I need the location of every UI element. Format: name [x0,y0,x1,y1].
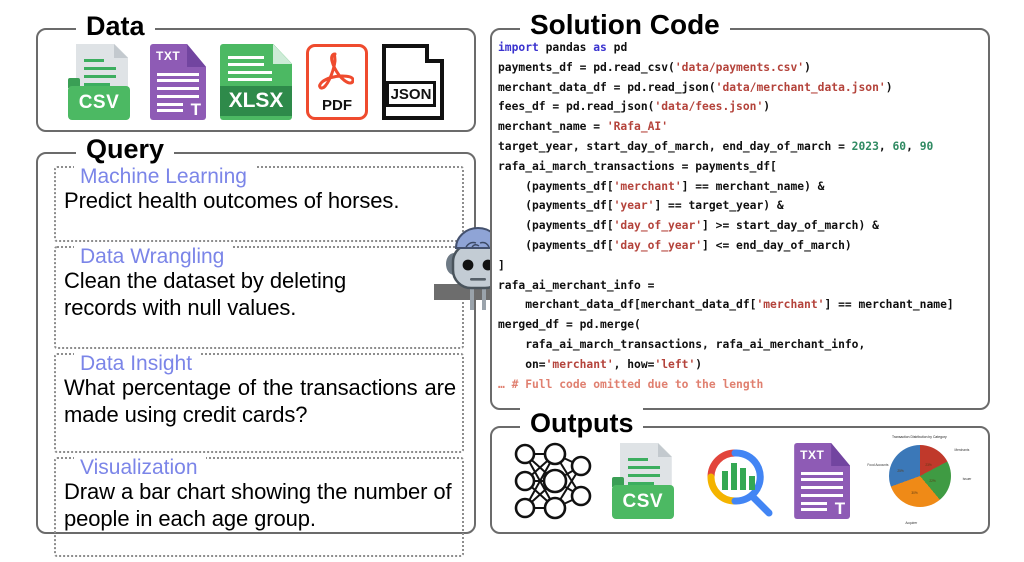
text-line [628,458,648,461]
csv-label: CSV [68,86,130,120]
query-text: Predict health outcomes of horses. [64,187,456,214]
pie-slice-value: 30% [911,491,917,495]
solution-code-panel: Solution Code import pandas as pd paymen… [490,28,990,410]
data-panel-title: Data [76,11,155,41]
text-line [801,508,827,511]
text-line [801,502,827,505]
query-panel: Query Machine Learning Predict health ou… [36,152,476,534]
csv-label: CSV [612,485,674,519]
outputs-panel: Outputs [490,426,990,534]
text-line [801,472,843,475]
query-item[interactable]: Visualization Draw a bar chart showing t… [54,457,464,557]
text-line [84,75,116,78]
figure-canvas: Data CSV TXT [0,0,1024,562]
outputs-icon-row: CSV [500,434,980,528]
page-fold [187,44,206,67]
query-item[interactable]: Data Wrangling Clean the dataset by dele… [54,246,464,349]
text-line [157,95,199,98]
text-line [628,466,660,469]
query-item[interactable]: Machine Learning Predict health outcomes… [54,166,464,242]
data-insight-magnifier-icon [697,441,777,521]
csv-file-icon: CSV [612,443,680,519]
xlsx-file-icon: XLSX [220,44,292,120]
data-file-icon-row: CSV TXT T [38,38,474,126]
text-line [801,478,843,481]
pie-slice-value: 25% [897,469,903,473]
text-line [157,87,199,90]
query-text: Draw a bar chart showing the number of p… [64,478,456,532]
text-line [228,78,272,81]
pie-chart-slices [889,445,951,507]
query-category-label: Data Insight [74,352,200,376]
txt-sub-label: T [835,500,845,517]
text-line [157,73,199,76]
pie-slice-label: Acquirer [905,521,917,525]
data-panel: Data CSV TXT [36,28,476,132]
text-line [84,67,116,70]
text-line [628,474,660,477]
json-label: JSON [386,81,436,107]
txt-label: TXT [156,49,180,63]
text-line [228,63,264,66]
code-block[interactable]: import pandas as pd payments_df = pd.rea… [498,38,984,404]
pie-chart-icon: Transaction Distribution by Category Mer… [867,435,971,527]
query-list: Machine Learning Predict health outcomes… [54,166,464,524]
query-text: What percentage of the transactions are … [64,374,456,428]
query-panel-title: Query [76,134,174,164]
txt-label: TXT [800,448,824,462]
pie-chart-title: Transaction Distribution by Category [867,435,971,440]
query-category-label: Visualization [74,456,206,480]
json-file-icon: JSON [382,44,444,120]
text-line [801,494,843,497]
text-line [84,59,104,62]
pdf-file-icon: PDF [306,44,368,120]
text-line [801,486,843,489]
pie-slice-value: 23% [925,463,931,467]
pie-slice-label: Issuer [963,477,972,481]
page-fold [425,44,444,63]
txt-file-icon: TXT T [794,443,850,519]
text-line [157,103,183,106]
solution-code-panel-title: Solution Code [520,10,730,40]
acrobat-glyph-icon [318,52,354,96]
query-category-label: Machine Learning [74,165,255,189]
pdf-label: PDF [306,97,368,114]
pie-slice-label: Merchants [954,448,969,452]
text-line [157,109,183,112]
query-text: Clean the dataset by deleting records wi… [64,267,394,321]
txt-file-icon: TXT T [150,44,206,120]
xlsx-label: XLSX [220,86,292,116]
csv-file-icon: CSV [68,44,136,120]
text-line [157,79,199,82]
query-category-label: Data Wrangling [74,245,232,269]
pie-slice-value: 22% [929,479,935,483]
txt-sub-label: T [191,101,201,118]
query-item[interactable]: Data Insight What percentage of the tran… [54,353,464,453]
text-line [228,71,272,74]
text-line [228,56,264,59]
pie-slice-label: Food Accounts [867,463,888,467]
neural-network-icon [509,440,595,522]
page-fold [114,44,128,58]
